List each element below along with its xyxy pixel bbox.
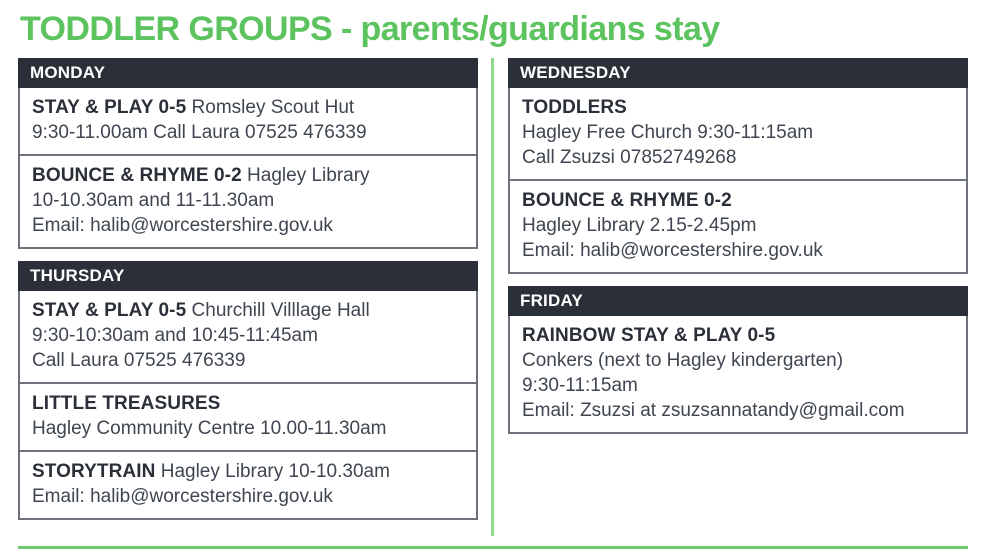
activity-entry: BOUNCE & RHYME 0-2 Hagley Library10-10.3… — [20, 154, 476, 247]
entry-line: 9:30-11.00am Call Laura 07525 476339 — [32, 120, 464, 145]
entry-line: STORYTRAIN Hagley Library 10-10.30am — [32, 459, 464, 484]
day-header: FRIDAY — [508, 286, 968, 316]
activity-entry: RAINBOW STAY & PLAY 0-5Conkers (next to … — [510, 316, 966, 432]
entry-detail: 9:30-11.00am Call Laura 07525 476339 — [32, 122, 367, 143]
activity-name: STORYTRAIN — [32, 461, 155, 482]
entry-line: STAY & PLAY 0-5 Churchill Villlage Hall — [32, 298, 464, 323]
page-title: TODDLER GROUPS - parents/guardians stay — [20, 8, 720, 50]
day-body: STAY & PLAY 0-5 Romsley Scout Hut9:30-11… — [18, 88, 478, 249]
entry-detail: Conkers (next to Hagley kindergarten) — [522, 350, 843, 371]
entry-detail: Hagley Library — [242, 165, 370, 186]
activity-entry: TODDLERSHagley Free Church 9:30-11:15amC… — [510, 88, 966, 179]
entry-line: Call Zsuzsi 07852749268 — [522, 145, 954, 170]
activity-entry: LITTLE TREASURESHagley Community Centre … — [20, 382, 476, 450]
entry-detail: 9:30-10:30am and 10:45-11:45am — [32, 325, 318, 346]
vertical-divider — [491, 58, 494, 536]
day-group-wednesday: WEDNESDAYTODDLERSHagley Free Church 9:30… — [508, 58, 968, 274]
entry-line: Email: halib@worcestershire.gov.uk — [32, 213, 464, 238]
activity-name: BOUNCE & RHYME 0-2 — [522, 190, 732, 211]
entry-detail: Romsley Scout Hut — [186, 97, 354, 118]
entry-line: BOUNCE & RHYME 0-2 — [522, 188, 954, 213]
entry-line: 9:30-11:15am — [522, 373, 954, 398]
activity-name: LITTLE TREASURES — [32, 393, 220, 414]
day-body: RAINBOW STAY & PLAY 0-5Conkers (next to … — [508, 316, 968, 434]
activity-entry: BOUNCE & RHYME 0-2Hagley Library 2.15-2.… — [510, 179, 966, 272]
entry-detail: 10-10.30am and 11-11.30am — [32, 190, 274, 211]
entry-line: Call Laura 07525 476339 — [32, 348, 464, 373]
bottom-rule — [18, 546, 968, 549]
right-column: WEDNESDAYTODDLERSHagley Free Church 9:30… — [508, 58, 968, 446]
entry-detail: Call Zsuzsi 07852749268 — [522, 147, 736, 168]
day-group-friday: FRIDAYRAINBOW STAY & PLAY 0-5Conkers (ne… — [508, 286, 968, 434]
entry-detail: Email: halib@worcestershire.gov.uk — [522, 240, 823, 261]
activity-entry: STAY & PLAY 0-5 Churchill Villlage Hall9… — [20, 291, 476, 382]
entry-line: BOUNCE & RHYME 0-2 Hagley Library — [32, 163, 464, 188]
entry-line: Hagley Library 2.15-2.45pm — [522, 213, 954, 238]
entry-line: LITTLE TREASURES — [32, 391, 464, 416]
entry-detail: Hagley Library 10-10.30am — [155, 461, 389, 482]
entry-detail: Call Laura 07525 476339 — [32, 350, 245, 371]
activity-entry: STAY & PLAY 0-5 Romsley Scout Hut9:30-11… — [20, 88, 476, 154]
entry-line: Conkers (next to Hagley kindergarten) — [522, 348, 954, 373]
entry-line: 9:30-10:30am and 10:45-11:45am — [32, 323, 464, 348]
entry-line: Hagley Free Church 9:30-11:15am — [522, 120, 954, 145]
day-header: THURSDAY — [18, 261, 478, 291]
entry-detail: Churchill Villlage Hall — [186, 300, 369, 321]
entry-line: STAY & PLAY 0-5 Romsley Scout Hut — [32, 95, 464, 120]
day-body: TODDLERSHagley Free Church 9:30-11:15amC… — [508, 88, 968, 274]
entry-detail: Hagley Library 2.15-2.45pm — [522, 215, 756, 236]
toddler-groups-poster: TODDLER GROUPS - parents/guardians stay … — [0, 0, 1004, 554]
entry-line: Email: Zsuzsi at zsuzsannatandy@gmail.co… — [522, 398, 954, 423]
day-header: MONDAY — [18, 58, 478, 88]
entry-line: Email: halib@worcestershire.gov.uk — [522, 238, 954, 263]
entry-line: Email: halib@worcestershire.gov.uk — [32, 484, 464, 509]
day-group-monday: MONDAYSTAY & PLAY 0-5 Romsley Scout Hut9… — [18, 58, 478, 249]
entry-detail: Hagley Free Church 9:30-11:15am — [522, 122, 813, 143]
activity-name: BOUNCE & RHYME 0-2 — [32, 165, 242, 186]
entry-detail: 9:30-11:15am — [522, 375, 638, 396]
left-column: MONDAYSTAY & PLAY 0-5 Romsley Scout Hut9… — [18, 58, 478, 532]
entry-detail: Hagley Community Centre 10.00-11.30am — [32, 418, 387, 439]
entry-detail: Email: halib@worcestershire.gov.uk — [32, 486, 333, 507]
activity-name: TODDLERS — [522, 97, 627, 118]
entry-detail: Email: Zsuzsi at zsuzsannatandy@gmail.co… — [522, 400, 905, 421]
activity-name: STAY & PLAY 0-5 — [32, 97, 186, 118]
day-body: STAY & PLAY 0-5 Churchill Villlage Hall9… — [18, 291, 478, 520]
entry-line: RAINBOW STAY & PLAY 0-5 — [522, 323, 954, 348]
day-group-thursday: THURSDAYSTAY & PLAY 0-5 Churchill Villla… — [18, 261, 478, 520]
entry-line: 10-10.30am and 11-11.30am — [32, 188, 464, 213]
day-header: WEDNESDAY — [508, 58, 968, 88]
activity-name: RAINBOW STAY & PLAY 0-5 — [522, 325, 775, 346]
activity-name: STAY & PLAY 0-5 — [32, 300, 186, 321]
entry-line: Hagley Community Centre 10.00-11.30am — [32, 416, 464, 441]
entry-detail: Email: halib@worcestershire.gov.uk — [32, 215, 333, 236]
activity-entry: STORYTRAIN Hagley Library 10-10.30amEmai… — [20, 450, 476, 518]
entry-line: TODDLERS — [522, 95, 954, 120]
